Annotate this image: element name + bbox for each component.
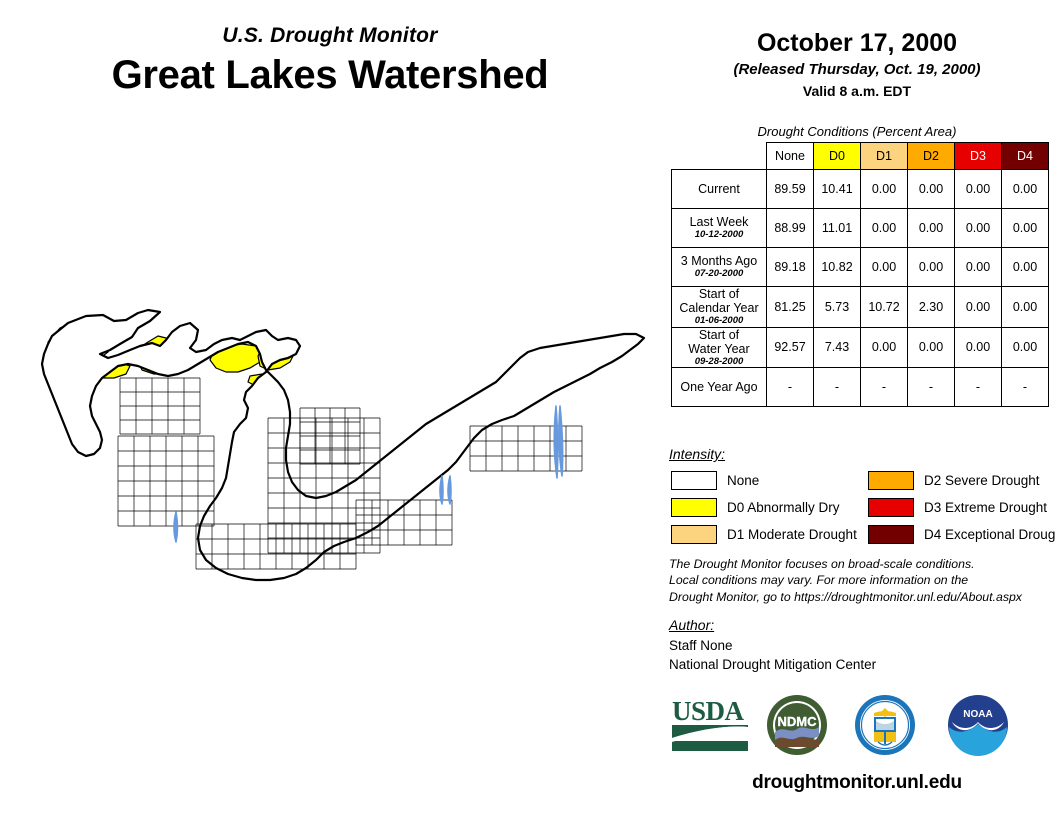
row-label: 3 Months Ago07-20-2000	[672, 248, 767, 287]
table-corner-cell	[672, 143, 767, 170]
table-row: 3 Months Ago07-20-200089.1810.820.000.00…	[672, 248, 1049, 287]
cell-d3: 0.00	[955, 287, 1002, 328]
cell-d3: 0.00	[955, 248, 1002, 287]
cell-d2: 0.00	[908, 209, 955, 248]
cell-d4: -	[1002, 368, 1049, 407]
noaa-logo: NOAA	[947, 694, 1009, 761]
row-label: Start ofWater Year09-28-2000	[672, 327, 767, 368]
report-date: October 17, 2000	[666, 28, 1048, 58]
legend-label: None	[727, 473, 759, 488]
cell-d4: 0.00	[1002, 248, 1049, 287]
legend-item: None	[671, 468, 857, 492]
legend-label: D3 Extreme Drought	[924, 500, 1047, 515]
legend-item: D3 Extreme Drought	[868, 495, 1056, 519]
row-label-date: 09-28-2000	[672, 357, 766, 368]
legend-item: D2 Severe Drought	[868, 468, 1056, 492]
table-row: Start ofCalendar Year01-06-200081.255.73…	[672, 287, 1049, 328]
legend-label: D2 Severe Drought	[924, 473, 1040, 488]
table-caption: Drought Conditions (Percent Area)	[666, 124, 1048, 139]
disclaimer-line-2: Local conditions may vary. For more info…	[669, 572, 1056, 588]
disclaimer-line-1: The Drought Monitor focuses on broad-sca…	[669, 556, 1056, 572]
cell-d0: 10.41	[814, 170, 861, 209]
cell-d3: 0.00	[955, 209, 1002, 248]
cell-d1: -	[861, 368, 908, 407]
cell-d1: 10.72	[861, 287, 908, 328]
cell-d1: 0.00	[861, 209, 908, 248]
table-body: Current89.5910.410.000.000.000.00Last We…	[672, 170, 1049, 407]
legend-item: D1 Moderate Drought	[671, 522, 857, 546]
page-title-block: U.S. Drought Monitor Great Lakes Watersh…	[0, 24, 660, 98]
map-shape	[559, 406, 563, 476]
map-shape	[174, 512, 178, 542]
cell-d2: 0.00	[908, 248, 955, 287]
table-row: Start ofWater Year09-28-200092.577.430.0…	[672, 327, 1049, 368]
legend-swatch	[868, 498, 914, 517]
table-row: Current89.5910.410.000.000.000.00	[672, 170, 1049, 209]
legend-column-right: D2 Severe DroughtD3 Extreme DroughtD4 Ex…	[868, 468, 1056, 549]
svg-text:NDMC: NDMC	[778, 714, 818, 729]
site-url: droughtmonitor.unl.edu	[666, 772, 1048, 794]
region-title: Great Lakes Watershed	[0, 52, 660, 98]
legend-swatch	[868, 525, 914, 544]
svg-text:USDA: USDA	[672, 696, 745, 726]
map-svg	[0, 288, 660, 628]
legend-swatch	[868, 471, 914, 490]
cell-d1: 0.00	[861, 170, 908, 209]
legend-item: D4 Exceptional Drought	[868, 522, 1056, 546]
legend-item: D0 Abnormally Dry	[671, 495, 857, 519]
cell-d0: 7.43	[814, 327, 861, 368]
row-label: Current	[672, 170, 767, 209]
cell-d0: 5.73	[814, 287, 861, 328]
logo-row: USDA NDMC	[662, 694, 1052, 766]
legend-label: D1 Moderate Drought	[727, 527, 857, 542]
map-shape	[440, 476, 443, 504]
cell-none: 88.99	[767, 209, 814, 248]
cell-d0: -	[814, 368, 861, 407]
col-header-none: None	[767, 143, 814, 170]
cell-none: -	[767, 368, 814, 407]
author-name: Staff None	[669, 636, 876, 655]
author-org: National Drought Mitigation Center	[669, 655, 876, 674]
legend-swatch	[671, 498, 717, 517]
cell-none: 89.59	[767, 170, 814, 209]
row-label-date: 07-20-2000	[672, 269, 766, 280]
cell-d3: 0.00	[955, 170, 1002, 209]
cell-d3: -	[955, 368, 1002, 407]
table-header-row: None D0 D1 D2 D3 D4	[672, 143, 1049, 170]
report-header: October 17, 2000 (Released Thursday, Oct…	[666, 28, 1048, 101]
usda-logo: USDA	[670, 694, 752, 759]
ndmc-logo: NDMC	[766, 694, 828, 761]
cell-d2: 0.00	[908, 170, 955, 209]
cell-none: 89.18	[767, 248, 814, 287]
legend-column-left: NoneD0 Abnormally DryD1 Moderate Drought	[671, 468, 857, 549]
col-header-d1: D1	[861, 143, 908, 170]
row-label-date: 01-06-2000	[672, 316, 766, 327]
cell-d2: -	[908, 368, 955, 407]
map-shape	[448, 476, 451, 504]
col-header-d4: D4	[1002, 143, 1049, 170]
report-valid-time: Valid 8 a.m. EDT	[666, 82, 1048, 101]
cell-d4: 0.00	[1002, 287, 1049, 328]
program-title: U.S. Drought Monitor	[0, 24, 660, 48]
drought-map[interactable]	[0, 288, 660, 628]
report-released: (Released Thursday, Oct. 19, 2000)	[666, 60, 1048, 80]
cell-d2: 2.30	[908, 287, 955, 328]
cell-none: 81.25	[767, 287, 814, 328]
col-header-d2: D2	[908, 143, 955, 170]
row-label: Last Week10-12-2000	[672, 209, 767, 248]
col-header-d0: D0	[814, 143, 861, 170]
disclaimer-line-3: Drought Monitor, go to https://droughtmo…	[669, 589, 1056, 605]
cell-none: 92.57	[767, 327, 814, 368]
legend-label: D0 Abnormally Dry	[727, 500, 840, 515]
drought-monitor-page: U.S. Drought Monitor Great Lakes Watersh…	[0, 0, 1056, 816]
row-label: One Year Ago	[672, 368, 767, 407]
author-info: Staff None National Drought Mitigation C…	[669, 636, 876, 674]
cell-d1: 0.00	[861, 248, 908, 287]
cell-d4: 0.00	[1002, 327, 1049, 368]
disclaimer-text: The Drought Monitor focuses on broad-sca…	[669, 556, 1056, 605]
col-header-d3: D3	[955, 143, 1002, 170]
drought-conditions-table: None D0 D1 D2 D3 D4 Current89.5910.410.0…	[671, 142, 1049, 407]
table-row: Last Week10-12-200088.9911.010.000.000.0…	[672, 209, 1049, 248]
cell-d0: 11.01	[814, 209, 861, 248]
legend-label: D4 Exceptional Drought	[924, 527, 1056, 542]
cell-d4: 0.00	[1002, 170, 1049, 209]
table-row: One Year Ago------	[672, 368, 1049, 407]
row-label-date: 10-12-2000	[672, 230, 766, 241]
svg-text:NOAA: NOAA	[963, 709, 992, 720]
cell-d0: 10.82	[814, 248, 861, 287]
cell-d2: 0.00	[908, 327, 955, 368]
legend-swatch	[671, 471, 717, 490]
row-label: Start ofCalendar Year01-06-2000	[672, 287, 767, 328]
legend-swatch	[671, 525, 717, 544]
cell-d1: 0.00	[861, 327, 908, 368]
map-shape	[554, 406, 558, 478]
author-heading: Author:	[669, 617, 714, 633]
intensity-heading: Intensity:	[669, 446, 725, 462]
cell-d4: 0.00	[1002, 209, 1049, 248]
doc-logo	[854, 694, 916, 761]
cell-d3: 0.00	[955, 327, 1002, 368]
